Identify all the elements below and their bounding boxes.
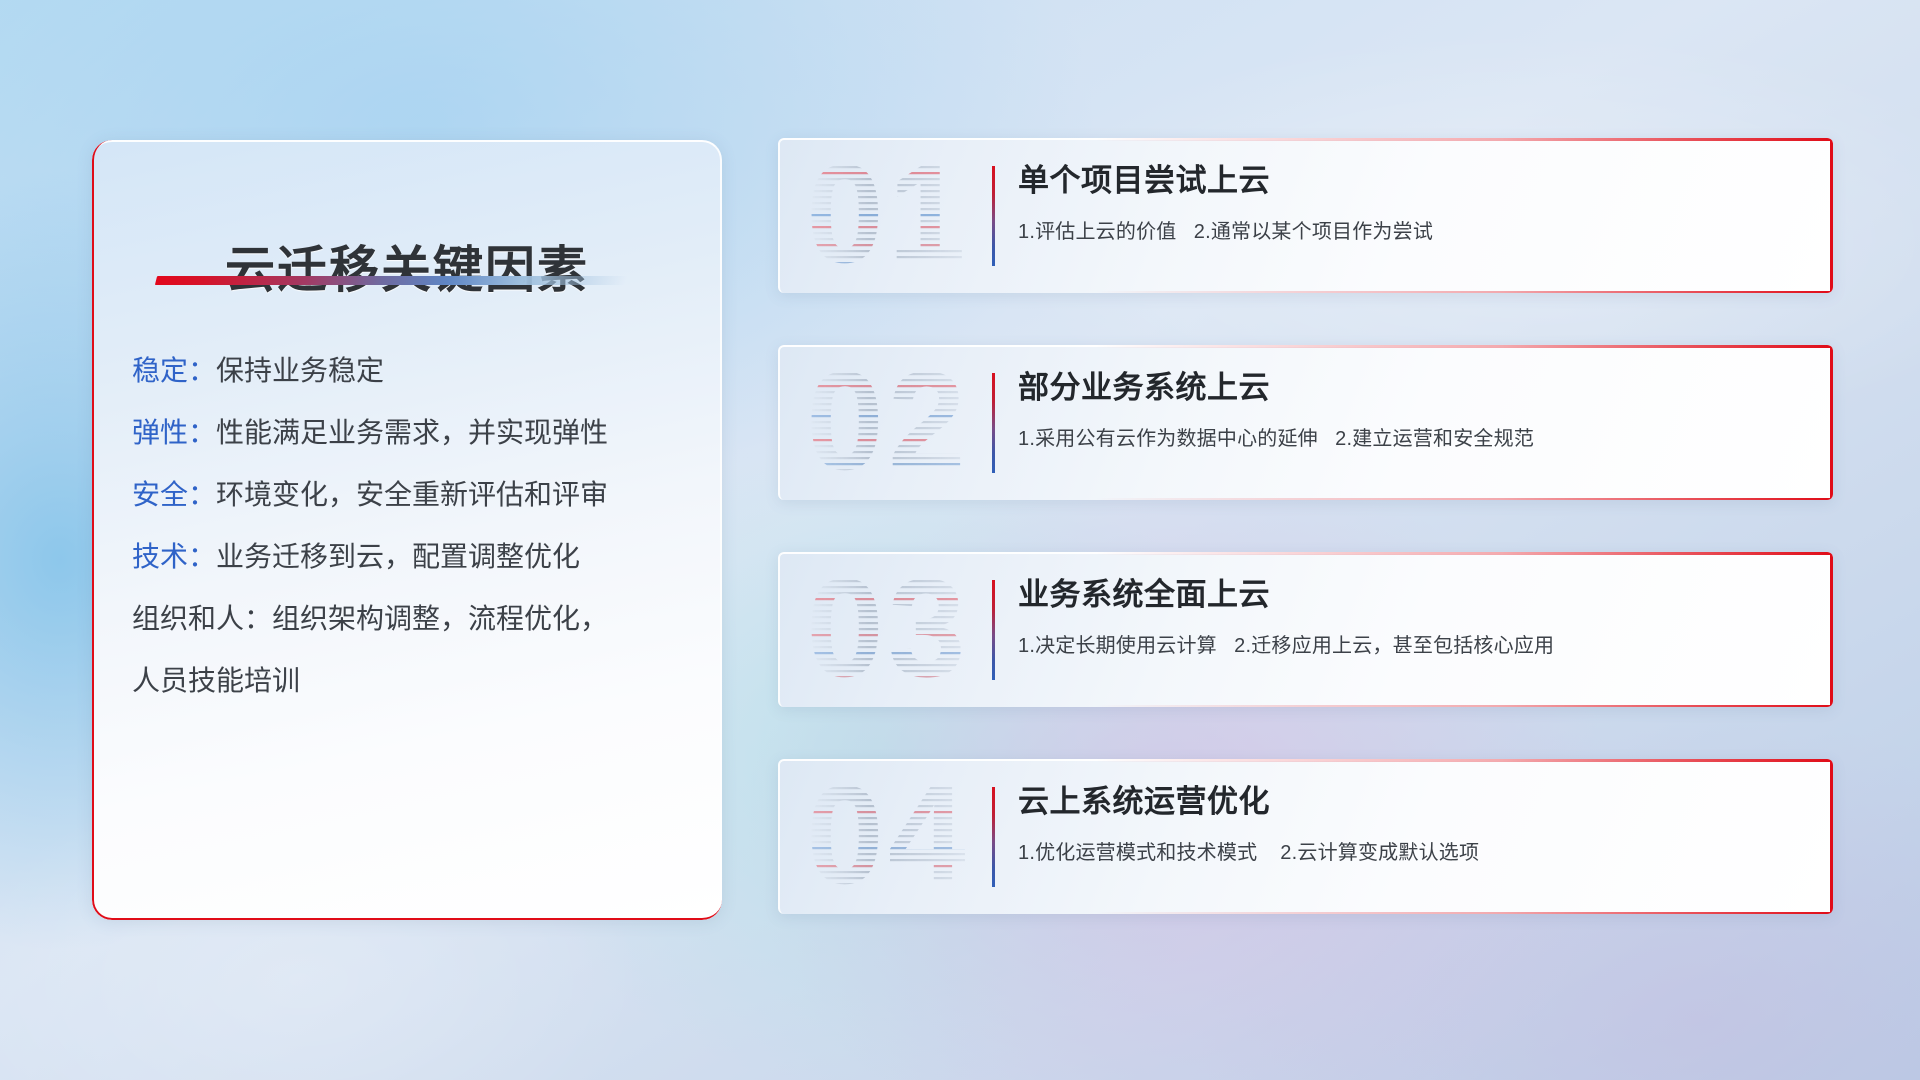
card-body: 单个项目尝试上云 1.评估上云的价值 2.通常以某个项目作为尝试 <box>1018 162 1793 244</box>
card-subtitle: 1.决定长期使用云计算 2.迁移应用上云，甚至包括核心应用 <box>1018 629 1793 658</box>
card-title: 业务系统全面上云 <box>1018 576 1793 615</box>
stage-card[interactable]: 03 <box>778 552 1833 707</box>
stage-card[interactable]: 04 <box>778 759 1833 914</box>
ghost-number-02-icon: 02 <box>806 359 986 487</box>
factor-value: 保持业务稳定 <box>216 355 384 386</box>
factor-label: 弹性： <box>132 417 216 448</box>
list-item: 技术：业务迁移到云，配置调整优化 <box>132 556 692 557</box>
factor-value: 组织架构调整，流程优化， <box>272 603 608 634</box>
card-accent-divider <box>992 580 995 680</box>
card-bottom-accent <box>1095 291 1834 294</box>
factor-value: 性能满足业务需求，并实现弹性 <box>216 417 608 448</box>
ghost-number-04-icon: 04 <box>806 773 986 901</box>
factor-value: 业务迁移到云，配置调整优化 <box>216 541 580 572</box>
factor-value: 人员技能培训 <box>132 665 300 696</box>
list-item: 弹性：性能满足业务需求，并实现弹性 <box>132 432 692 433</box>
card-accent-divider <box>992 787 995 887</box>
card-top-accent <box>1095 552 1834 555</box>
card-body: 业务系统全面上云 1.决定长期使用云计算 2.迁移应用上云，甚至包括核心应用 <box>1018 576 1793 658</box>
card-title: 单个项目尝试上云 <box>1018 162 1793 201</box>
factor-value: 环境变化，安全重新评估和评审 <box>216 479 608 510</box>
factor-label: 技术： <box>132 541 216 572</box>
card-title: 云上系统运营优化 <box>1018 783 1793 822</box>
card-subtitle: 1.评估上云的价值 2.通常以某个项目作为尝试 <box>1018 215 1793 244</box>
card-accent-divider <box>992 166 995 266</box>
ghost-number-01-icon: 01 <box>806 152 986 280</box>
card-top-accent <box>1095 345 1834 348</box>
card-bottom-accent <box>1095 912 1834 915</box>
ghost-number-03-icon: 03 <box>806 566 986 694</box>
list-item: 安全：环境变化，安全重新评估和评审 <box>132 494 692 495</box>
factor-label: 安全： <box>132 479 216 510</box>
card-bottom-accent <box>1095 498 1834 501</box>
card-top-accent <box>1095 759 1834 762</box>
card-body: 部分业务系统上云 1.采用公有云作为数据中心的延伸 2.建立运营和安全规范 <box>1018 369 1793 451</box>
card-top-accent <box>1095 138 1834 141</box>
card-title: 部分业务系统上云 <box>1018 369 1793 408</box>
card-subtitle: 1.采用公有云作为数据中心的延伸 2.建立运营和安全规范 <box>1018 422 1793 451</box>
page-title: 云迁移关键因素 <box>92 230 722 302</box>
stage-card[interactable]: 01 <box>778 138 1833 293</box>
list-item: 组织和人：组织架构调整，流程优化， <box>132 618 692 619</box>
factor-label: 组织和人： <box>132 603 272 634</box>
stage-card[interactable]: 02 <box>778 345 1833 500</box>
factor-list: 稳定：保持业务稳定 弹性：性能满足业务需求，并实现弹性 安全：环境变化，安全重新… <box>132 370 692 681</box>
title-underline-accent <box>155 276 627 285</box>
list-item: 人员技能培训 <box>132 680 692 681</box>
list-item: 稳定：保持业务稳定 <box>132 370 692 371</box>
card-body: 云上系统运营优化 1.优化运营模式和技术模式 2.云计算变成默认选项 <box>1018 783 1793 865</box>
key-factors-panel: 云迁移关键因素 稳定：保持业务稳定 弹性：性能满足业务需求，并实现弹性 安全：环… <box>92 140 722 920</box>
card-subtitle: 1.优化运营模式和技术模式 2.云计算变成默认选项 <box>1018 836 1793 865</box>
slide-stage: 云迁移关键因素 稳定：保持业务稳定 弹性：性能满足业务需求，并实现弹性 安全：环… <box>0 0 1920 1080</box>
card-bottom-accent <box>1095 705 1834 708</box>
card-accent-divider <box>992 373 995 473</box>
factor-label: 稳定： <box>132 355 216 386</box>
stage-card-list: 01 <box>778 138 1833 914</box>
